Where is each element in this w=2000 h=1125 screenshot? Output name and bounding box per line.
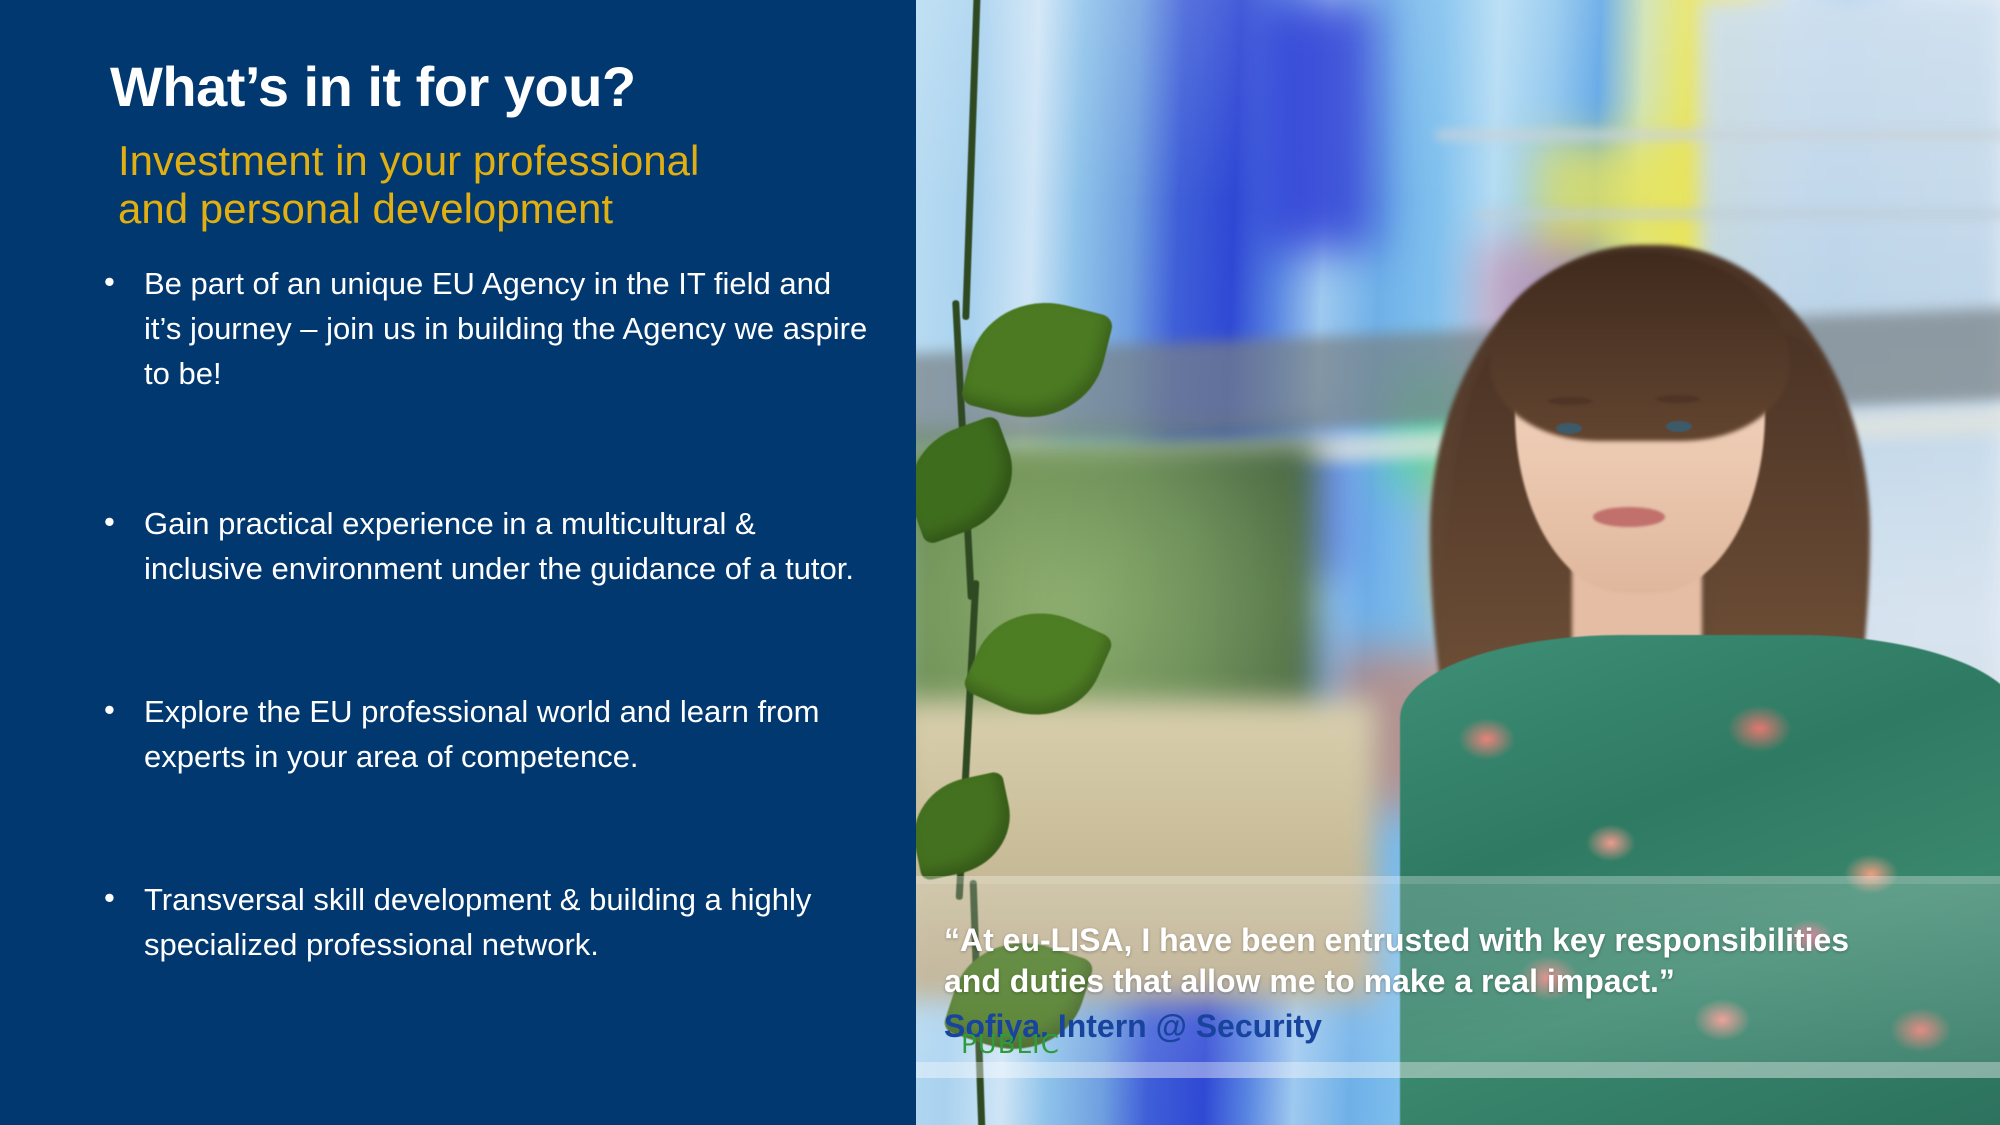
bullet-marker-icon: • xyxy=(104,688,115,733)
page-subtitle: Investment in your professional and pers… xyxy=(118,137,858,233)
subtitle-line-1: Investment in your professional xyxy=(118,137,858,185)
balcony-rail-2 xyxy=(1476,210,2000,218)
list-item-text: Explore the EU professional world and le… xyxy=(144,694,819,774)
list-item: • Transversal skill development & buildi… xyxy=(98,878,868,968)
bullet-marker-icon: • xyxy=(104,500,115,545)
list-item: • Be part of an unique EU Agency in the … xyxy=(98,262,868,397)
eyebrow-right xyxy=(1656,395,1700,403)
list-item: • Gain practical experience in a multicu… xyxy=(98,502,868,592)
page-title: What’s in it for you? xyxy=(110,58,890,117)
vine-leaf xyxy=(916,414,1030,546)
public-watermark: PUBLIC xyxy=(961,1030,1060,1060)
overlay-band-bottom xyxy=(916,1062,2000,1078)
subtitle-line-2: and personal development xyxy=(118,185,858,233)
bullet-marker-icon: • xyxy=(104,260,115,305)
list-item-text: Transversal skill development & building… xyxy=(144,882,811,962)
balcony-rail xyxy=(1436,130,2000,140)
slide: What’s in it for you? Investment in your… xyxy=(0,0,2000,1125)
list-item-text: Be part of an unique EU Agency in the IT… xyxy=(144,266,867,391)
list-item: • Explore the EU professional world and … xyxy=(98,690,868,780)
bullet-list: • Be part of an unique EU Agency in the … xyxy=(98,262,888,967)
testimonial-quote: “At eu-LISA, I have been entrusted with … xyxy=(944,920,2000,1047)
vine-leaf xyxy=(961,590,1115,737)
quote-line-2: and duties that allow me to make a real … xyxy=(944,961,2000,1002)
bullet-marker-icon: • xyxy=(104,876,115,921)
eye-left xyxy=(1556,423,1582,434)
vine-leaf xyxy=(959,286,1114,434)
quote-attribution: Sofiya, Intern @ Security xyxy=(944,1006,2000,1047)
eye-right xyxy=(1666,421,1692,432)
left-content-panel: What’s in it for you? Investment in your… xyxy=(0,0,916,1125)
overlay-band-top xyxy=(916,876,2000,884)
mouth xyxy=(1593,507,1665,527)
vine-leaf xyxy=(916,771,1020,882)
list-item-text: Gain practical experience in a multicult… xyxy=(144,506,854,586)
quote-line-1: “At eu-LISA, I have been entrusted with … xyxy=(944,920,2000,961)
eyebrow-left xyxy=(1548,397,1592,405)
